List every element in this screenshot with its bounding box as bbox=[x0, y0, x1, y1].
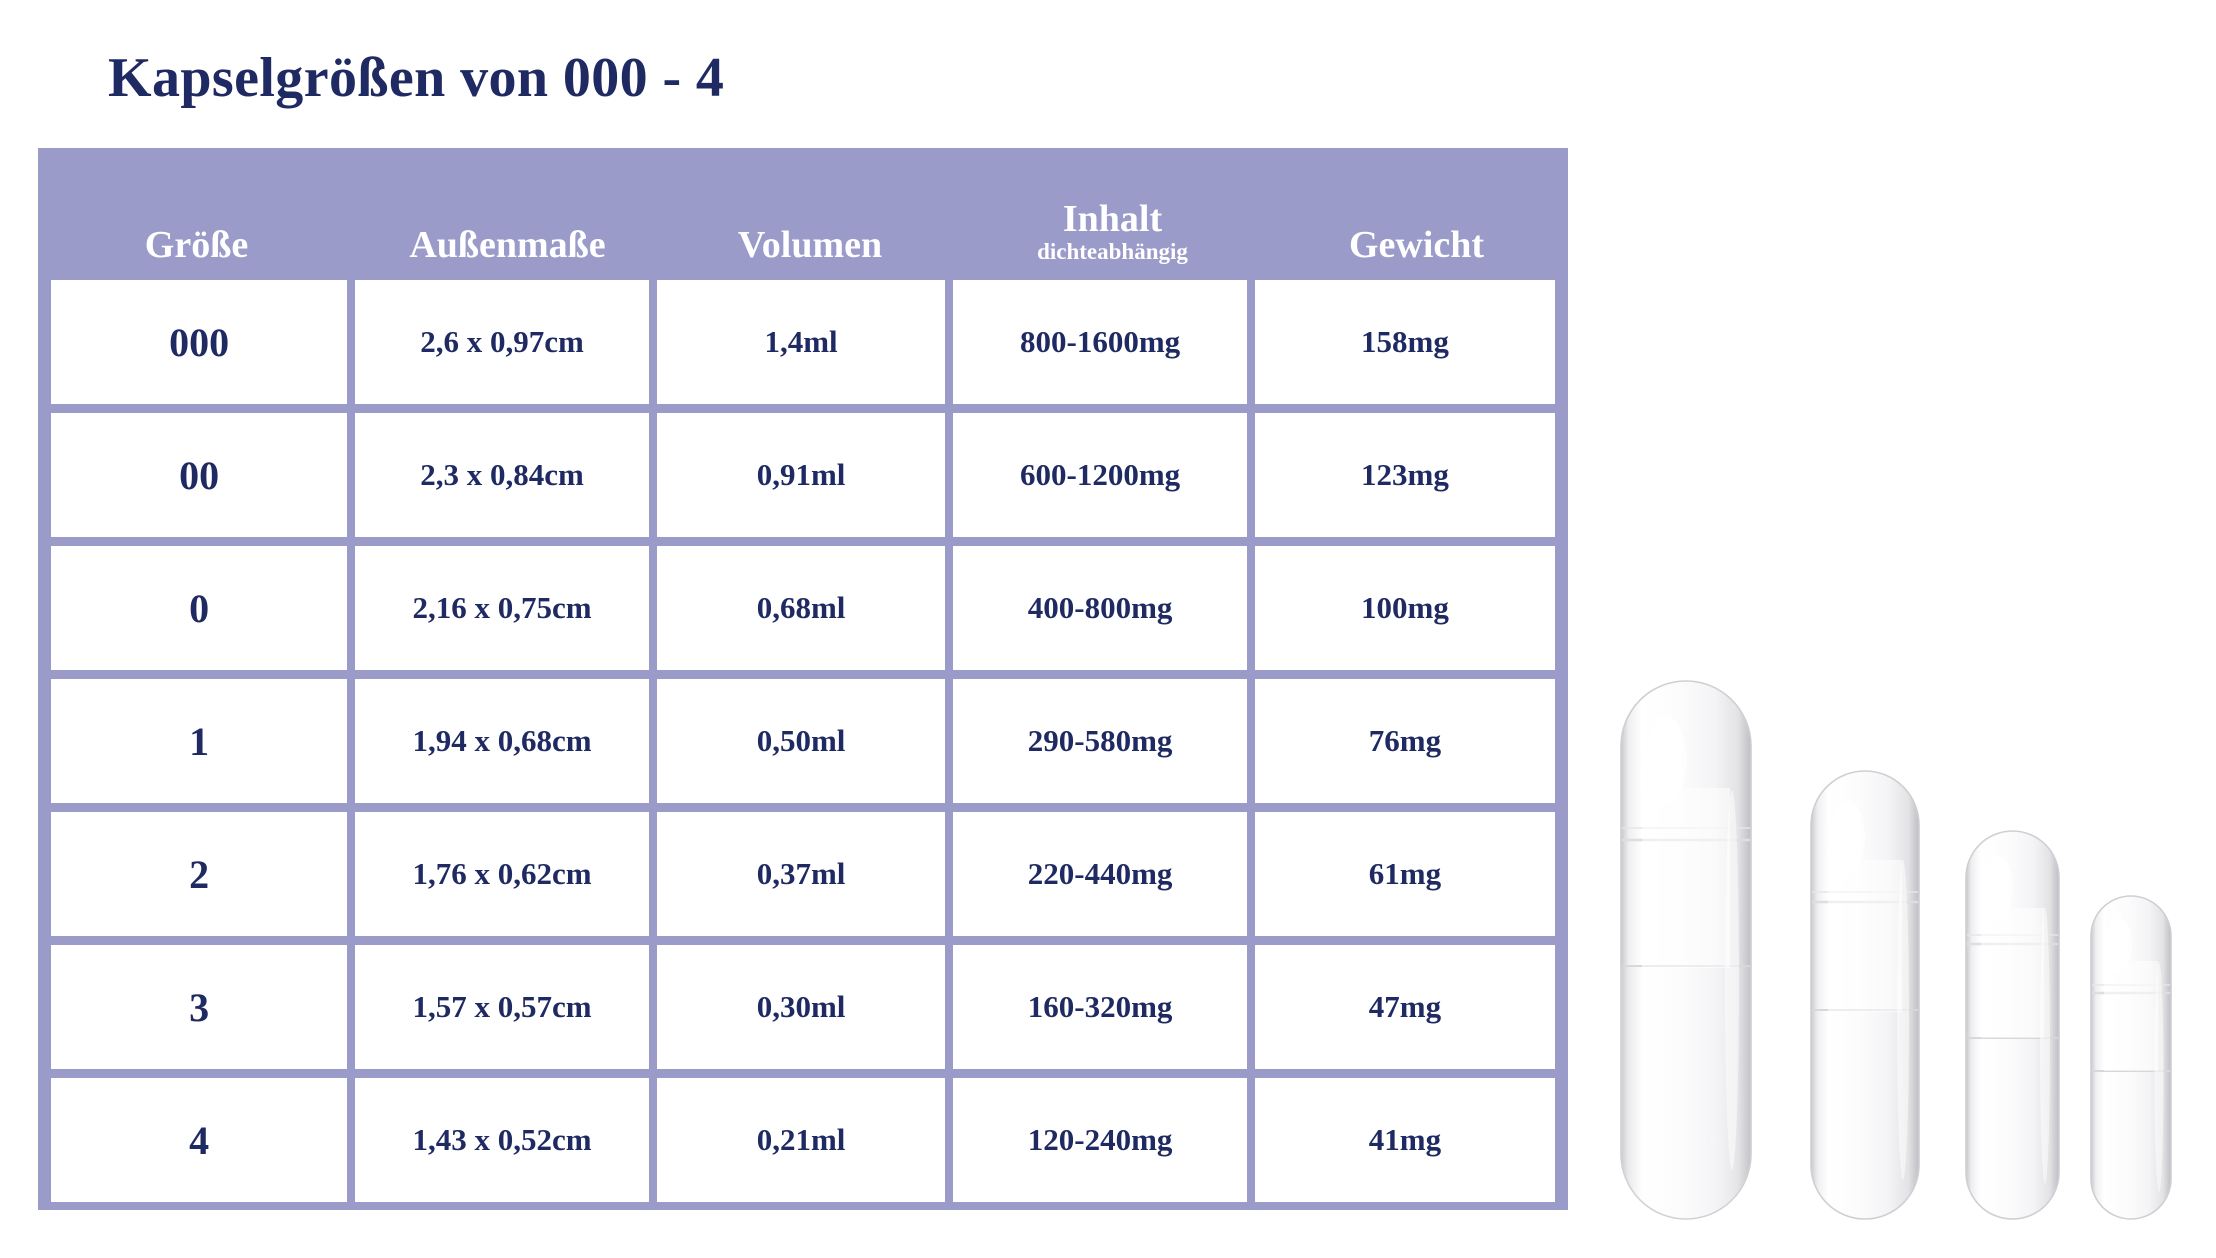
cell-content: 400-800mg bbox=[953, 546, 1246, 670]
capsule-1-image bbox=[2090, 895, 2172, 1220]
table-row: 4 1,43 x 0,52cm 0,21ml 120-240mg 41mg bbox=[47, 1078, 1559, 1211]
cell-dimensions: 1,57 x 0,57cm bbox=[355, 945, 648, 1069]
cell-dimensions: 1,76 x 0,62cm bbox=[355, 812, 648, 936]
column-header-content-label: Inhalt bbox=[1063, 200, 1162, 238]
cell-content: 220-440mg bbox=[953, 812, 1246, 936]
cell-content: 160-320mg bbox=[953, 945, 1246, 1069]
cell-dimensions: 2,3 x 0,84cm bbox=[355, 413, 648, 537]
capsule-icon bbox=[1810, 770, 1920, 1220]
table-body: 000 2,6 x 0,97cm 1,4ml 800-1600mg 158mg … bbox=[38, 280, 1568, 1220]
table-row: 3 1,57 x 0,57cm 0,30ml 160-320mg 47mg bbox=[47, 945, 1559, 1078]
cell-dimensions: 1,94 x 0,68cm bbox=[355, 679, 648, 803]
capsule-icon bbox=[2090, 895, 2172, 1220]
column-header-content-sublabel: dichteabhängig bbox=[1037, 240, 1188, 264]
cell-dimensions: 2,6 x 0,97cm bbox=[355, 280, 648, 404]
cell-volume: 0,68ml bbox=[657, 546, 946, 670]
cell-volume: 0,50ml bbox=[657, 679, 946, 803]
cell-weight: 41mg bbox=[1255, 1078, 1555, 1202]
cell-content: 290-580mg bbox=[953, 679, 1246, 803]
table-header-row: Größe Außenmaße Volumen Inhalt dichteabh… bbox=[38, 148, 1568, 280]
cell-volume: 1,4ml bbox=[657, 280, 946, 404]
cell-dimensions: 2,16 x 0,75cm bbox=[355, 546, 648, 670]
cell-weight: 158mg bbox=[1255, 280, 1555, 404]
column-header-dimensions-label: Außenmaße bbox=[409, 226, 605, 264]
capsule-000-image bbox=[1620, 680, 1752, 1220]
table-row: 00 2,3 x 0,84cm 0,91ml 600-1200mg 123mg bbox=[47, 413, 1559, 546]
cell-weight: 47mg bbox=[1255, 945, 1555, 1069]
capsule-00-image bbox=[1810, 770, 1920, 1220]
table-row: 1 1,94 x 0,68cm 0,50ml 290-580mg 76mg bbox=[47, 679, 1559, 812]
capsule-icon bbox=[1965, 830, 2060, 1220]
cell-content: 120-240mg bbox=[953, 1078, 1246, 1202]
cell-size: 00 bbox=[51, 413, 347, 537]
capsule-sizes-table: Größe Außenmaße Volumen Inhalt dichteabh… bbox=[38, 148, 1568, 1210]
table-row: 0 2,16 x 0,75cm 0,68ml 400-800mg 100mg bbox=[47, 546, 1559, 679]
cell-volume: 0,37ml bbox=[657, 812, 946, 936]
column-header-dimensions: Außenmaße bbox=[355, 148, 660, 280]
table-row: 000 2,6 x 0,97cm 1,4ml 800-1600mg 158mg bbox=[47, 280, 1559, 413]
cell-weight: 61mg bbox=[1255, 812, 1555, 936]
column-header-weight-label: Gewicht bbox=[1349, 226, 1484, 264]
cell-volume: 0,21ml bbox=[657, 1078, 946, 1202]
column-header-content: Inhalt dichteabhängig bbox=[960, 148, 1265, 280]
column-header-volume-label: Volumen bbox=[738, 226, 882, 264]
cell-weight: 76mg bbox=[1255, 679, 1555, 803]
cell-size: 3 bbox=[51, 945, 347, 1069]
column-header-volume: Volumen bbox=[660, 148, 960, 280]
page-title: Kapselgrößen von 000 - 4 bbox=[108, 46, 724, 110]
cell-content: 800-1600mg bbox=[953, 280, 1246, 404]
column-header-weight: Gewicht bbox=[1265, 148, 1568, 280]
cell-weight: 123mg bbox=[1255, 413, 1555, 537]
column-header-size-label: Größe bbox=[145, 226, 248, 264]
cell-size: 0 bbox=[51, 546, 347, 670]
capsule-size-comparison-illustration bbox=[1620, 660, 2200, 1220]
cell-size: 000 bbox=[51, 280, 347, 404]
cell-dimensions: 1,43 x 0,52cm bbox=[355, 1078, 648, 1202]
capsule-icon bbox=[1620, 680, 1752, 1220]
table-row: 2 1,76 x 0,62cm 0,37ml 220-440mg 61mg bbox=[47, 812, 1559, 945]
cell-volume: 0,30ml bbox=[657, 945, 946, 1069]
cell-content: 600-1200mg bbox=[953, 413, 1246, 537]
cell-size: 4 bbox=[51, 1078, 347, 1202]
cell-volume: 0,91ml bbox=[657, 413, 946, 537]
column-header-size: Größe bbox=[38, 148, 355, 280]
capsule-0-image bbox=[1965, 830, 2060, 1220]
cell-size: 1 bbox=[51, 679, 347, 803]
cell-weight: 100mg bbox=[1255, 546, 1555, 670]
cell-size: 2 bbox=[51, 812, 347, 936]
